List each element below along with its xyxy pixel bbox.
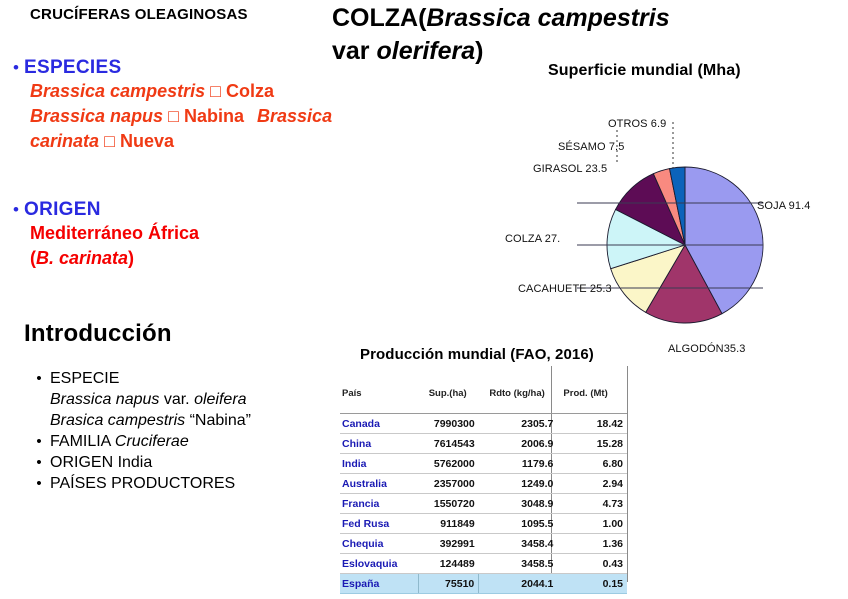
cell-produccion: 1.00 [557, 514, 627, 534]
table-row: Chequia3929913458.41.36 [340, 534, 627, 554]
cell-produccion: 1.36 [557, 534, 627, 554]
table-body: Canada79903002305.718.42China76145432006… [340, 414, 627, 594]
bullet-dot-icon: • [8, 58, 24, 77]
especies-line-3: carinata □ Nueva [30, 129, 338, 154]
title-paren-close: ) [475, 37, 483, 65]
table-header: País Sup.(ha) Rdto (kg/ha) Prod. (Mt) [340, 378, 627, 414]
bullet-dot-icon: • [28, 368, 50, 389]
bullet-heading-especies: ESPECIES [24, 58, 121, 78]
title-var-text: var [332, 37, 376, 65]
cell-pais: España [340, 574, 419, 594]
list-item-label: FAMILIA Cruciferae [50, 431, 189, 452]
cell-superficie: 392991 [419, 534, 479, 554]
cell-superficie: 75510 [419, 574, 479, 594]
origen-line-1: Mediterráneo África [30, 221, 338, 246]
cell-superficie: 124489 [419, 554, 479, 574]
cell-produccion: 4.73 [557, 494, 627, 514]
table-row: Fed Rusa9118491095.51.00 [340, 514, 627, 534]
table-title: Producción mundial (FAO, 2016) [360, 346, 594, 363]
cell-pais: Fed Rusa [340, 514, 419, 534]
title-variety-name: olerifera [376, 37, 475, 65]
list-item: • PAÍSES PRODUCTORES [28, 473, 338, 494]
pie-label-soja: SOJA 91.4 [757, 200, 811, 212]
pie-label-otros: OTROS 6.9 [608, 118, 666, 130]
common-name-nueva: Nueva [120, 131, 174, 151]
cell-pais: India [340, 454, 419, 474]
cell-superficie: 1550720 [419, 494, 479, 514]
common-name-colza: Colza [226, 81, 274, 101]
species-name-napus: Brassica napus [30, 106, 163, 126]
cell-produccion: 2.94 [557, 474, 627, 494]
col-header-produccion: Prod. (Mt) [557, 378, 627, 414]
col-header-pais: País [340, 378, 419, 414]
cell-rendimiento: 2044.1 [479, 574, 558, 594]
bullet-dot-icon: • [28, 431, 50, 452]
bullet-block-especies: • ESPECIES Brassica campestris □ Colza B… [8, 58, 338, 154]
cell-pais: Francia [340, 494, 419, 514]
intro-bullet-list: • ESPECIE Brassica napus var. oleifera B… [28, 368, 338, 494]
production-table: País Sup.(ha) Rdto (kg/ha) Prod. (Mt) Ca… [340, 378, 627, 594]
bullet-block-origen: • ORIGEN Mediterráneo África (B. carinat… [8, 200, 338, 271]
cell-rendimiento: 3048.9 [479, 494, 558, 514]
cell-produccion: 0.43 [557, 554, 627, 574]
origen-lines: Mediterráneo África (B. carinata) [30, 221, 338, 271]
cell-rendimiento: 2305.7 [479, 414, 558, 434]
table-row: China76145432006.915.28 [340, 434, 627, 454]
pie-chart: SOJA 91.4 ALGODÓN35.3 CACAHUETE 25.3 COL… [505, 100, 848, 360]
arrow-glyph-icon: □ [168, 106, 179, 126]
var-label: var. [159, 391, 194, 408]
origen-line-2: (B. carinata) [30, 246, 338, 271]
cell-superficie: 911849 [419, 514, 479, 534]
common-name-nabina: Nabina [184, 106, 244, 126]
especies-line-1: Brassica campestris □ Colza [30, 79, 338, 104]
table-row: Francia15507203048.94.73 [340, 494, 627, 514]
list-item: • FAMILIA Cruciferae [28, 431, 338, 452]
list-item: • ESPECIE [28, 368, 338, 389]
cell-rendimiento: 1095.5 [479, 514, 558, 534]
arrow-glyph-icon: □ [104, 131, 115, 151]
list-subline: Brassica napus var. oleifera [50, 389, 338, 410]
cell-rendimiento: 3458.5 [479, 554, 558, 574]
bullet-dot-icon: • [28, 452, 50, 473]
cell-rendimiento: 1249.0 [479, 474, 558, 494]
cell-produccion: 18.42 [557, 414, 627, 434]
cell-produccion: 15.28 [557, 434, 627, 454]
page-title: COLZA(Brassica campestris var olerifera) [332, 2, 752, 68]
cell-pais: Eslovaquia [340, 554, 419, 574]
cell-superficie: 2357000 [419, 474, 479, 494]
familia-label: FAMILIA [50, 433, 110, 450]
cell-pais: Chequia [340, 534, 419, 554]
species-genus-brassica: Brassica [257, 106, 332, 126]
col-header-superficie: Sup.(ha) [419, 378, 479, 414]
bullet-dot-icon: • [28, 473, 50, 494]
section-title-introduccion: Introducción [24, 320, 172, 348]
list-item-label: ORIGEN India [50, 452, 152, 473]
species-name-carinata: carinata [30, 131, 99, 151]
pie-label-girasol: GIRASOL 23.5 [533, 163, 607, 175]
page-heading: CRUCÍFERAS OLEAGINOSAS [30, 6, 248, 23]
bullet-dot-icon: • [8, 200, 24, 219]
table-right-border [627, 366, 628, 582]
especies-lines: Brassica campestris □ Colza Brassica nap… [30, 79, 338, 154]
pie-label-cacahuete: CACAHUETE 25.3 [518, 283, 612, 295]
cell-produccion: 6.80 [557, 454, 627, 474]
species-name-napus: Brassica napus [50, 391, 159, 408]
cell-produccion: 0.15 [557, 574, 627, 594]
cell-superficie: 7990300 [419, 414, 479, 434]
bullet-heading-origen: ORIGEN [24, 200, 101, 220]
familia-value-cruciferae: Cruciferae [115, 433, 189, 450]
arrow-glyph-icon: □ [210, 81, 221, 101]
table-header-row: País Sup.(ha) Rdto (kg/ha) Prod. (Mt) [340, 378, 627, 414]
species-name-b-carinata: B. carinata [36, 248, 128, 268]
title-species-name: Brassica campestris [426, 4, 669, 32]
cell-rendimiento: 1179.6 [479, 454, 558, 474]
list-item-label: PAÍSES PRODUCTORES [50, 473, 235, 494]
especies-line-2: Brassica napus □ Nabina Brassica [30, 104, 338, 129]
common-name-nabina: “Nabina” [185, 412, 251, 429]
list-subline: Brasica campestris “Nabina” [50, 410, 338, 431]
cell-pais: China [340, 434, 419, 454]
col-header-rendimiento: Rdto (kg/ha) [479, 378, 558, 414]
list-item: • ORIGEN India [28, 452, 338, 473]
paren-close: ) [128, 248, 134, 268]
page-title-line-1: COLZA(Brassica campestris [332, 2, 752, 35]
pie-label-colza: COLZA 27. [505, 233, 560, 245]
chart-title: Superficie mundial (Mha) [548, 62, 741, 80]
table-row: Canada79903002305.718.42 [340, 414, 627, 434]
title-colza-text: COLZA( [332, 4, 426, 32]
cell-rendimiento: 3458.4 [479, 534, 558, 554]
cell-rendimiento: 2006.9 [479, 434, 558, 454]
pie-label-algodon: ALGODÓN35.3 [668, 343, 746, 355]
cell-superficie: 7614543 [419, 434, 479, 454]
species-name-campestris: Brassica campestris [30, 81, 205, 101]
cell-superficie: 5762000 [419, 454, 479, 474]
pie-chart-svg [505, 100, 848, 360]
list-item-label: ESPECIE [50, 368, 119, 389]
cell-pais: Australia [340, 474, 419, 494]
cell-pais: Canada [340, 414, 419, 434]
variety-oleifera: oleifera [194, 391, 246, 408]
table-row: Eslovaquia1244893458.50.43 [340, 554, 627, 574]
table-row: España755102044.10.15 [340, 574, 627, 594]
pie-label-sesamo: SÉSAMO 7.5 [558, 141, 624, 153]
species-name-brasica-campestris: Brasica campestris [50, 412, 185, 429]
table-row: Australia23570001249.02.94 [340, 474, 627, 494]
table-row: India57620001179.66.80 [340, 454, 627, 474]
